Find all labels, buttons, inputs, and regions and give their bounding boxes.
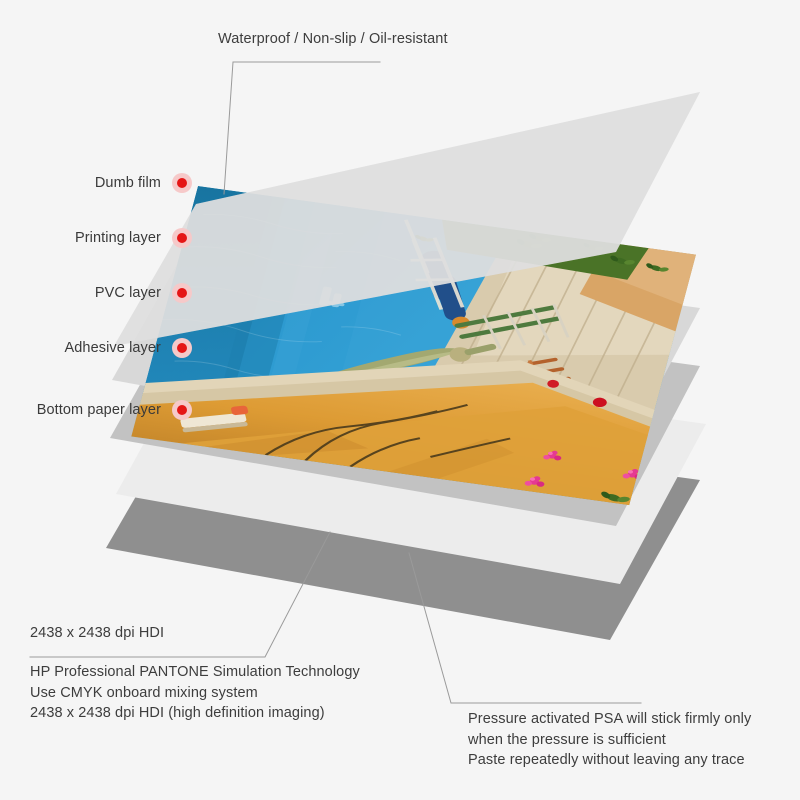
layer-callout-pvc-layer[interactable]: PVC layer (0, 283, 192, 303)
layer-label: PVC layer (95, 286, 161, 301)
layer-label: Bottom paper layer (37, 403, 161, 418)
red-dot-icon (172, 338, 192, 358)
annotation-waterproof: Waterproof / Non-slip / Oil-resistant (218, 29, 448, 50)
layer-callout-adhesive-layer[interactable]: Adhesive layer (0, 338, 192, 358)
layer-callout-printing-layer[interactable]: Printing layer (0, 228, 192, 248)
annotation-printing-technology: HP Professional PANTONE Simulation Techn… (30, 662, 360, 724)
annotation-dpi: 2438 x 2438 dpi HDI (30, 623, 164, 644)
layer-label: Dumb film (95, 176, 161, 191)
red-dot-icon (172, 173, 192, 193)
red-dot-icon (172, 283, 192, 303)
red-dot-icon (172, 400, 192, 420)
layer-label: Printing layer (75, 231, 161, 246)
layer-callout-bottom-paper-layer[interactable]: Bottom paper layer (0, 400, 192, 420)
red-dot-icon (172, 228, 192, 248)
layer-label: Adhesive layer (64, 341, 161, 356)
layer-callout-dumb-film[interactable]: Dumb film (0, 173, 192, 193)
annotation-adhesive-performance: Pressure activated PSA will stick firmly… (468, 709, 751, 771)
diagram-canvas: Dumb film Printing layer PVC layer Adhes… (0, 0, 800, 800)
